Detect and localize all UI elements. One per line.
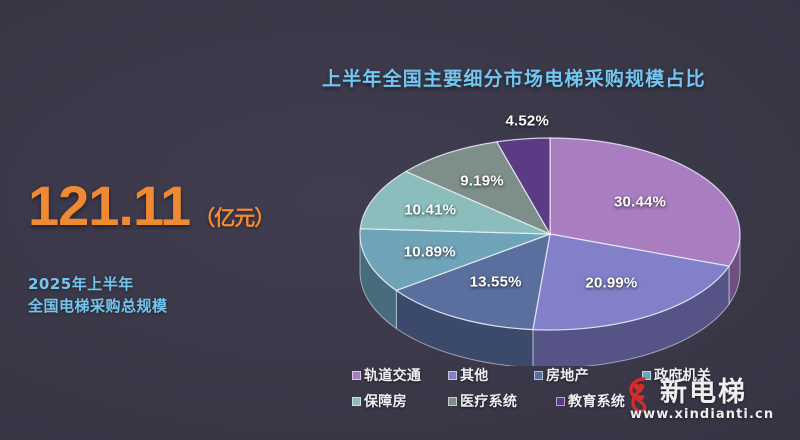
legend-label: 轨道交通 bbox=[364, 365, 421, 385]
legend-item-房地产[interactable]: 房地产 bbox=[534, 365, 642, 385]
pie-slice-label: 10.41% bbox=[404, 201, 456, 218]
pie-slice-label: 20.99% bbox=[585, 274, 637, 291]
legend-swatch-icon bbox=[448, 397, 457, 406]
legend-item-保障房[interactable]: 保障房 bbox=[352, 391, 448, 411]
pie-slice-label: 10.89% bbox=[404, 243, 456, 260]
chart-title: 上半年全国主要细分市场电梯采购规模占比 bbox=[322, 64, 706, 91]
legend-row: 保障房医疗系统教育系统 bbox=[352, 388, 752, 414]
summary-panel: 121.11 （亿元） 2025年上半年 全国电梯采购总规模 bbox=[28, 178, 328, 318]
legend-label: 政府机关 bbox=[654, 365, 711, 385]
legend-label: 教育系统 bbox=[568, 391, 625, 411]
pie-slice-label: 9.19% bbox=[460, 172, 504, 189]
summary-caption-line-1: 2025年上半年 bbox=[28, 274, 328, 296]
summary-caption-line-2: 全国电梯采购总规模 bbox=[28, 296, 328, 318]
infographic-canvas: 121.11 （亿元） 2025年上半年 全国电梯采购总规模 上半年全国主要细分… bbox=[0, 0, 800, 440]
legend-item-医疗系统[interactable]: 医疗系统 bbox=[448, 391, 556, 411]
chart-legend: 轨道交通其他房地产政府机关保障房医疗系统教育系统 bbox=[352, 362, 752, 414]
summary-caption: 2025年上半年 全国电梯采购总规模 bbox=[28, 274, 328, 318]
legend-swatch-icon bbox=[352, 397, 361, 406]
pie-slice-label: 4.52% bbox=[505, 112, 549, 129]
pie-chart-svg bbox=[338, 126, 768, 366]
pie-slice-label: 30.44% bbox=[614, 193, 666, 210]
legend-item-政府机关[interactable]: 政府机关 bbox=[642, 365, 711, 385]
legend-swatch-icon bbox=[352, 371, 361, 380]
legend-item-其他[interactable]: 其他 bbox=[448, 365, 534, 385]
total-value: 121.11 bbox=[28, 178, 190, 234]
legend-swatch-icon bbox=[642, 371, 651, 380]
legend-swatch-icon bbox=[556, 397, 565, 406]
legend-label: 房地产 bbox=[546, 365, 589, 385]
pie-slice-label: 13.55% bbox=[470, 274, 522, 291]
total-value-unit: （亿元） bbox=[194, 202, 274, 232]
total-value-row: 121.11 （亿元） bbox=[28, 178, 328, 234]
legend-row: 轨道交通其他房地产政府机关 bbox=[352, 362, 752, 388]
legend-label: 其他 bbox=[460, 365, 489, 385]
legend-label: 医疗系统 bbox=[460, 391, 517, 411]
legend-item-轨道交通[interactable]: 轨道交通 bbox=[352, 365, 448, 385]
legend-item-教育系统[interactable]: 教育系统 bbox=[556, 391, 625, 411]
legend-swatch-icon bbox=[534, 371, 543, 380]
legend-swatch-icon bbox=[448, 371, 457, 380]
legend-label: 保障房 bbox=[364, 391, 407, 411]
pie-chart: 30.44%20.99%13.55%10.89%10.41%9.19%4.52% bbox=[338, 126, 768, 366]
pie-top-faces bbox=[360, 138, 740, 330]
